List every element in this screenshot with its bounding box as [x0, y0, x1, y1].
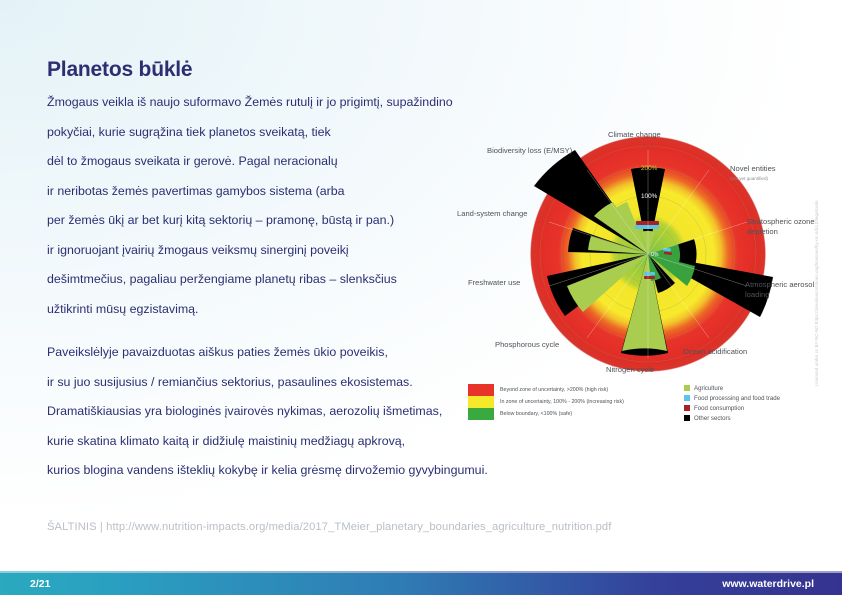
legend-swatch-agriculture	[684, 385, 690, 391]
legend-sectors: Agriculture Food processing and food tra…	[684, 383, 780, 423]
body-line: užtikrinti mūsų egzistavimą.	[47, 295, 453, 325]
legend-zone-item: Beyond zone of uncertainty, >200% (high …	[468, 384, 624, 396]
axis-label-ocean-acidification: Ocean acidification	[683, 347, 747, 357]
legend-swatch-food-processing	[684, 395, 690, 401]
source-line: ŠALTINIS | http://www.nutrition-impacts.…	[47, 521, 611, 533]
legend-sector-label: Food consumption	[694, 405, 744, 412]
footer-website-url[interactable]: www.waterdrive.pl	[722, 578, 814, 590]
legend-sector-item: Other sectors	[684, 413, 780, 423]
legend-swatch-high-risk	[468, 384, 494, 396]
legend-swatch-food-consumption	[684, 405, 690, 411]
legend-zone-label: In zone of uncertainty, 100% - 200% (inc…	[500, 399, 624, 405]
legend-sector-item: Food processing and food trade	[684, 393, 780, 403]
body-line: Paveikslėlyje pavaizduotas aiškus paties…	[47, 338, 488, 368]
legend-sector-item: Food consumption	[684, 403, 780, 413]
axis-label-climate-change: Climate change	[608, 130, 661, 140]
axis-sublabel-novel-entities: (not yet quantified)	[730, 176, 768, 182]
body-line: per žemės ūkį ar bet kurį kitą sektorių …	[47, 206, 453, 236]
radial-tick-200: 200%	[641, 165, 658, 172]
axis-label-atmospheric-aerosol-loading: Atmospheric aerosol loading	[745, 280, 823, 300]
axis-label-land-system-change: Land-system change	[457, 209, 528, 219]
body-line: pokyčiai, kurie sugrąžina tiek planetos …	[47, 118, 453, 148]
axis-label-nitrogen-cycle: Nitrogen cycle	[606, 365, 654, 375]
legend-zone-label: Beyond zone of uncertainty, >200% (high …	[500, 387, 608, 393]
legend-swatch-safe	[468, 408, 494, 420]
axis-label-phosphorous-cycle: Phosphorous cycle	[495, 340, 559, 350]
legend-swatch-other-sectors	[684, 415, 690, 421]
body-paragraph-2: Paveikslėlyje pavaizduotas aiškus paties…	[47, 338, 488, 486]
body-line: kurios blogina vandens išteklių kokybę i…	[47, 456, 488, 486]
axis-label-biodiversity-loss: Biodiversity loss (E/MSY)	[487, 146, 572, 156]
legend-zones: Beyond zone of uncertainty, >200% (high …	[468, 384, 624, 420]
radial-tick-300: 300%	[641, 143, 658, 150]
page-title: Planetos būklė	[47, 58, 192, 82]
slide: Planetos būklė Žmogaus veikla iš naujo s…	[0, 0, 842, 595]
radial-tick-0: 0%	[651, 252, 659, 258]
license-credit-vertical: Licensed under cc BY-NC-ND https://creat…	[814, 128, 826, 386]
legend-swatch-increasing-risk	[468, 396, 494, 408]
body-line: ir neribotas žemės pavertimas gamybos si…	[47, 177, 453, 207]
page-number: 2/21	[30, 578, 50, 590]
planetary-boundaries-figure: 0% 100% 200% 300% Climate change Novel e…	[455, 126, 842, 436]
radial-tick-100: 100%	[641, 193, 658, 200]
body-line: dešimtmečius, pagaliau peržengiame plane…	[47, 265, 453, 295]
body-line: ir su juo susijusius / remiančius sektor…	[47, 368, 488, 398]
body-line: dėl to žmogaus sveikata ir gerovė. Pagal…	[47, 147, 453, 177]
axis-label-stratospheric-ozone-depletion: Stratospheric ozone depletion	[747, 217, 817, 237]
body-line: Dramatiškiausias yra biologinės įvairovė…	[47, 397, 488, 427]
legend-zone-item: In zone of uncertainty, 100% - 200% (inc…	[468, 396, 624, 408]
footer-bar: 2/21 www.waterdrive.pl	[0, 573, 842, 595]
legend-zone-label: Below boundary, <100% (safe)	[500, 411, 572, 417]
legend-sector-label: Other sectors	[694, 415, 731, 422]
legend-sector-item: Agriculture	[684, 383, 780, 393]
body-line: Žmogaus veikla iš naujo suformavo Žemės …	[47, 88, 453, 118]
body-line: kurie skatina klimato kaitą ir didžiulę …	[47, 427, 488, 457]
legend-sector-label: Agriculture	[694, 385, 723, 392]
body-paragraph-1: Žmogaus veikla iš naujo suformavo Žemės …	[47, 88, 453, 324]
axis-label-novel-entities: Novel entities	[730, 164, 776, 174]
body-line: ir ignoruojant įvairių žmogaus veiksmų s…	[47, 236, 453, 266]
axis-label-freshwater-use: Freshwater use	[468, 278, 520, 288]
legend-zone-item: Below boundary, <100% (safe)	[468, 408, 624, 420]
legend-sector-label: Food processing and food trade	[694, 395, 780, 402]
